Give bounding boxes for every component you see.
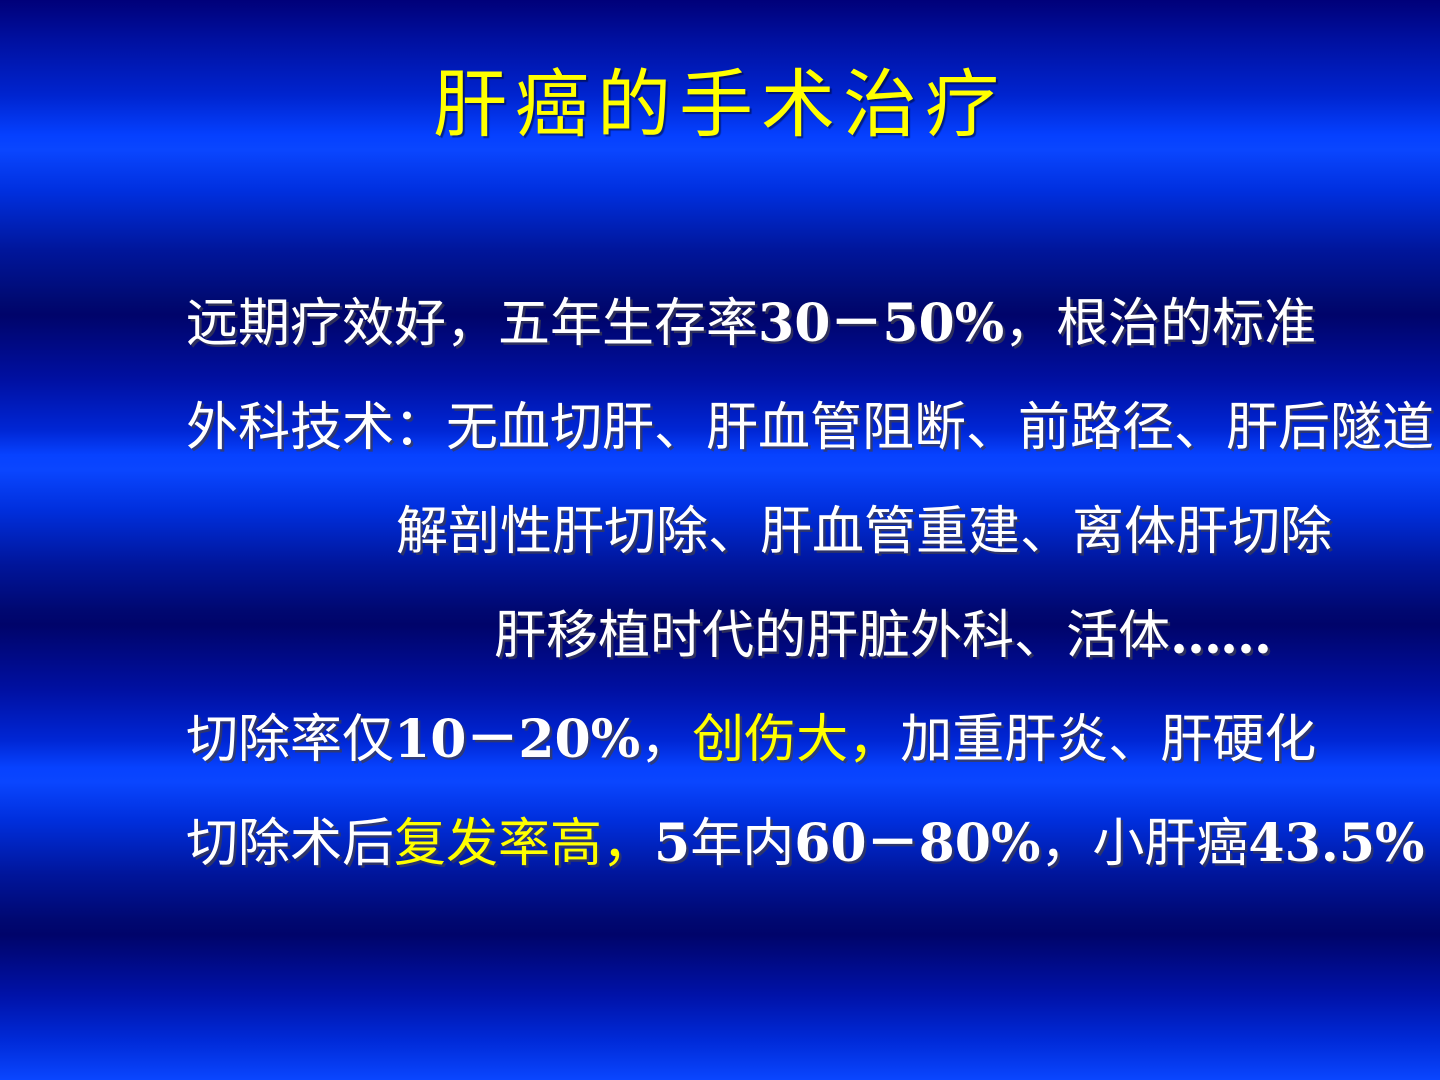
body-line: 切除术后复发率高，5年内60－80%，小肝癌43.5% (0, 792, 1440, 896)
body-line: 切除率仅10－20%，创伤大，加重肝炎、肝硬化 (0, 688, 1440, 792)
slide-title: 肝癌的手术治疗 (0, 68, 1440, 142)
text-segment: 创伤大， (692, 710, 900, 770)
text-segment: ，小肝癌 (1040, 814, 1248, 874)
body-line: 肝移植时代的肝脏外科、活体…… (0, 584, 1440, 688)
text-segment: ，根治的标准 (1004, 294, 1316, 354)
slide-canvas: 肝癌的手术治疗 远期疗效好，五年生存率30－50%，根治的标准外科技术：无血切肝… (0, 0, 1440, 1080)
text-segment: 切除术后 (186, 814, 394, 874)
text-segment: ， (640, 710, 692, 770)
body-line: 外科技术：无血切肝、肝血管阻断、前路径、肝后隧道 (0, 376, 1440, 480)
text-segment: 加重肝炎、肝硬化 (900, 710, 1316, 770)
text-segment: 43.5% (1248, 813, 1424, 874)
text-segment: 30－50% (758, 293, 1004, 354)
text-segment: 外科技术：无血切肝、肝血管阻断、前路径、肝后隧道 (186, 398, 1434, 458)
text-segment: 5 (654, 813, 690, 874)
body-line: 解剖性肝切除、肝血管重建、离体肝切除 (0, 480, 1440, 584)
text-segment: …… (1170, 605, 1270, 666)
body-line: 远期疗效好，五年生存率30－50%，根治的标准 (0, 272, 1440, 376)
slide-body: 远期疗效好，五年生存率30－50%，根治的标准外科技术：无血切肝、肝血管阻断、前… (0, 272, 1440, 896)
text-segment: 解剖性肝切除、肝血管重建、离体肝切除 (396, 502, 1332, 562)
text-segment: 年内 (690, 814, 794, 874)
text-segment: 切除率仅 (186, 710, 394, 770)
text-segment: 复发率高， (394, 814, 654, 874)
text-segment: 远期疗效好，五年生存率 (186, 294, 758, 354)
text-segment: 10－20% (394, 709, 640, 770)
text-segment: 肝移植时代的肝脏外科、活体 (494, 606, 1170, 666)
text-segment: 60－80% (794, 813, 1040, 874)
